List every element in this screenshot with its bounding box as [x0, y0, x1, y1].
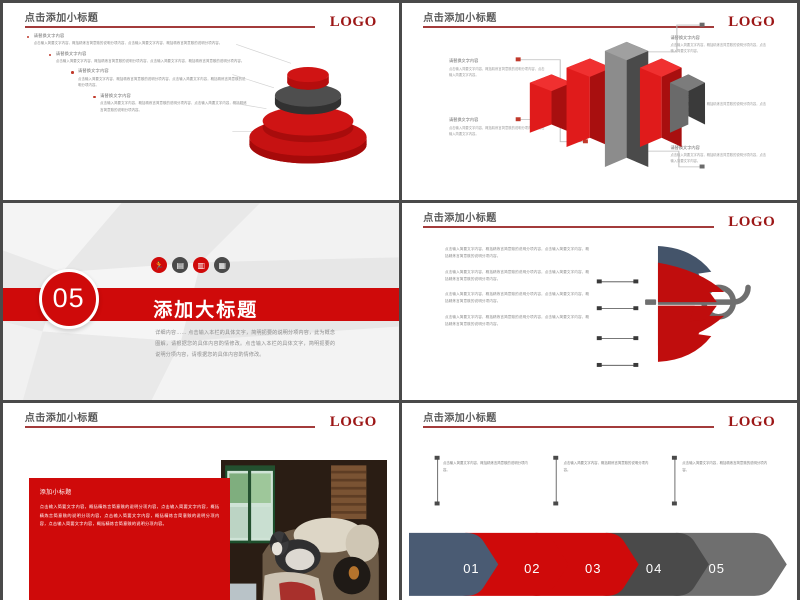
list-item-body: 点击输入简要文字内容，概括精炼言简意赅的说明分项内容，点击输入简要文字内容，概括… [56, 58, 248, 64]
bar-chart-icon[interactable]: ▥ [193, 257, 209, 273]
presentation-board-icon[interactable]: ▤ [172, 257, 188, 273]
header-rule [25, 426, 316, 428]
bullet-list: 请替换文字内容 点击输入简要文字内容，概括精炼言简意赅的说明分项内容，点击输入简… [27, 33, 248, 118]
section-number-badge: 05 [39, 269, 99, 329]
slide-5-photo-card[interactable]: 点击添加小标题 LOGO [3, 403, 399, 600]
list-item[interactable]: 请替换文字内容 点击输入简要文字内容，概括精炼言简意赅的说明分项内容，点击输入简… [49, 51, 248, 65]
slide-1-cone[interactable]: 点击添加小标题 LOGO 请替换文字内容 点击输入简要文字内容，概括精炼言简意赅… [3, 3, 399, 200]
list-item-heading: 请替换文字内容 [34, 33, 248, 39]
slide-4-umbrella[interactable]: 点击添加小标题 LOGO 点击输入简要文字内容，概括精炼言简意赅的说明分项内容，… [402, 203, 798, 400]
icon-row: 🏃 ▤ ▥ ▦ [151, 257, 230, 273]
cone-pyramid-graphic [221, 33, 395, 175]
bullet-dot-icon [71, 71, 74, 74]
running-person-icon[interactable]: 🏃 [151, 257, 167, 273]
logo: LOGO [330, 414, 377, 431]
section-body: 详细内容…… 点击输入本栏的具体文字，简明扼要的说明分项内容，此为概念图解，请根… [155, 328, 335, 360]
bullet-dot-icon [27, 36, 30, 39]
list-item[interactable]: 请替换文字内容 点击输入简要文字内容，概括精炼言简意赅的说明分项内容，点击输入简… [27, 33, 248, 47]
document-edit-icon[interactable]: ▦ [214, 257, 230, 273]
bullet-dot-icon [93, 96, 96, 99]
umbrella-icon [623, 235, 781, 373]
slide-5-header: 点击添加小标题 LOGO [3, 403, 399, 437]
page-title: 点击添加小标题 [25, 409, 99, 424]
photo-dog-on-couch [221, 460, 387, 600]
list-item-heading: 请替换文字内容 [56, 51, 248, 57]
card-body: 点击输入简要文字内容，概括精炼言简意赅的说明分项内容，点击输入简要文字内容，概括… [40, 503, 220, 529]
bullet-dot-icon [49, 54, 52, 57]
step-number-5: 05 [675, 523, 759, 600]
page-title: 点击添加小标题 [25, 9, 99, 24]
slide-2-blocks[interactable]: 点击添加小标题 LOGO 请替换文字内容 点击输入简要文字内容，概括精炼言简意赅… [402, 3, 798, 200]
slide-6-process-arrows[interactable]: 点击添加小标题 LOGO 点击输入简要文字内容，概括精炼言简意赅的说明分项内容。… [402, 403, 798, 600]
logo: LOGO [330, 14, 377, 31]
header-rule [25, 26, 316, 28]
red-text-card[interactable]: 添加小标题 点击输入简要文字内容，概括精炼言简意赅的说明分项内容，点击输入简要文… [29, 478, 231, 600]
card-heading: 添加小标题 [40, 487, 220, 496]
slide-3-section-title[interactable]: 🏃 ▤ ▥ ▦ 05 添加大标题 详细内容…… 点击输入本栏的具体文字，简明扼要… [3, 203, 399, 400]
chevron-number-labels: 01 02 03 04 05 [433, 523, 781, 600]
stacked-blocks-graphic [520, 31, 710, 173]
list-item-body: 点击输入简要文字内容，概括精炼言简意赅的说明分项内容，点击输入简要文字内容，概括… [34, 40, 248, 46]
slide-thumbnail-grid: 点击添加小标题 LOGO 请替换文字内容 点击输入简要文字内容，概括精炼言简意赅… [0, 0, 800, 600]
section-title: 添加大标题 [153, 295, 258, 322]
